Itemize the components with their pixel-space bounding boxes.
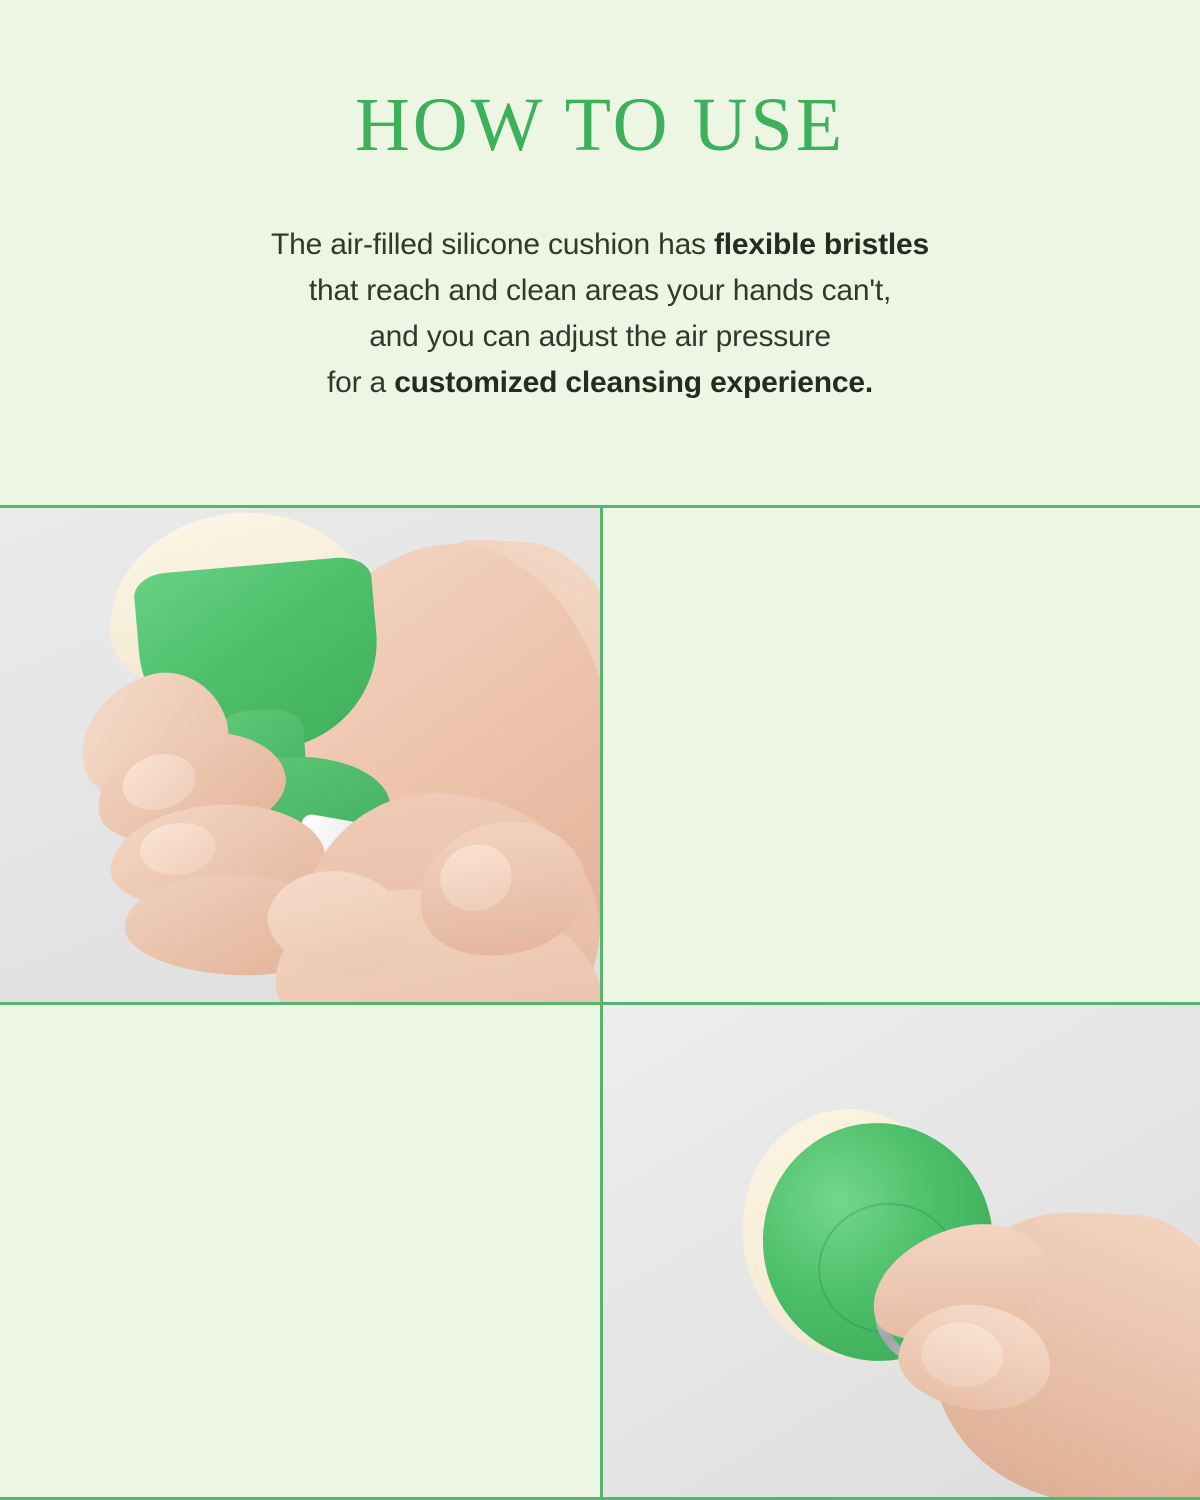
step-02-photo	[603, 1005, 1200, 1500]
intro-line-3: and you can adjust the air pressure	[0, 314, 1200, 360]
page-title: HOW TO USE	[0, 86, 1200, 166]
intro-line-4-emphasis: customized cleansing experience.	[394, 366, 873, 399]
step-01-text-cell: STEP 01 Air can be injected using the pu…	[603, 505, 1200, 1002]
intro-line-2: that reach and clean areas your hands ca…	[0, 268, 1200, 314]
intro-paragraph: The air-filled silicone cushion has flex…	[0, 222, 1200, 406]
intro-line-4: for a customized cleansing experience.	[0, 360, 1200, 406]
step-01-photo	[0, 505, 600, 1002]
photo-hand-pressing-cap	[603, 1005, 1200, 1500]
steps-grid: STEP 01 Air can be injected using the pu…	[0, 505, 1200, 1500]
step-02-text-cell: STEP 02 Press center of the pump on the …	[0, 1005, 600, 1500]
grid-rule-vertical	[600, 505, 603, 1500]
how-to-use-page: HOW TO USE The air-filled silicone cushi…	[0, 0, 1200, 1500]
intro-line-4-text: for a	[327, 366, 394, 399]
intro-line-1-emphasis: flexible bristles	[714, 228, 929, 261]
photo-hand-pumping-stem	[0, 505, 600, 1002]
intro-line-1: The air-filled silicone cushion has flex…	[0, 222, 1200, 268]
intro-line-1-text: The air-filled silicone cushion has	[271, 228, 714, 261]
header-section: HOW TO USE The air-filled silicone cushi…	[0, 0, 1200, 505]
